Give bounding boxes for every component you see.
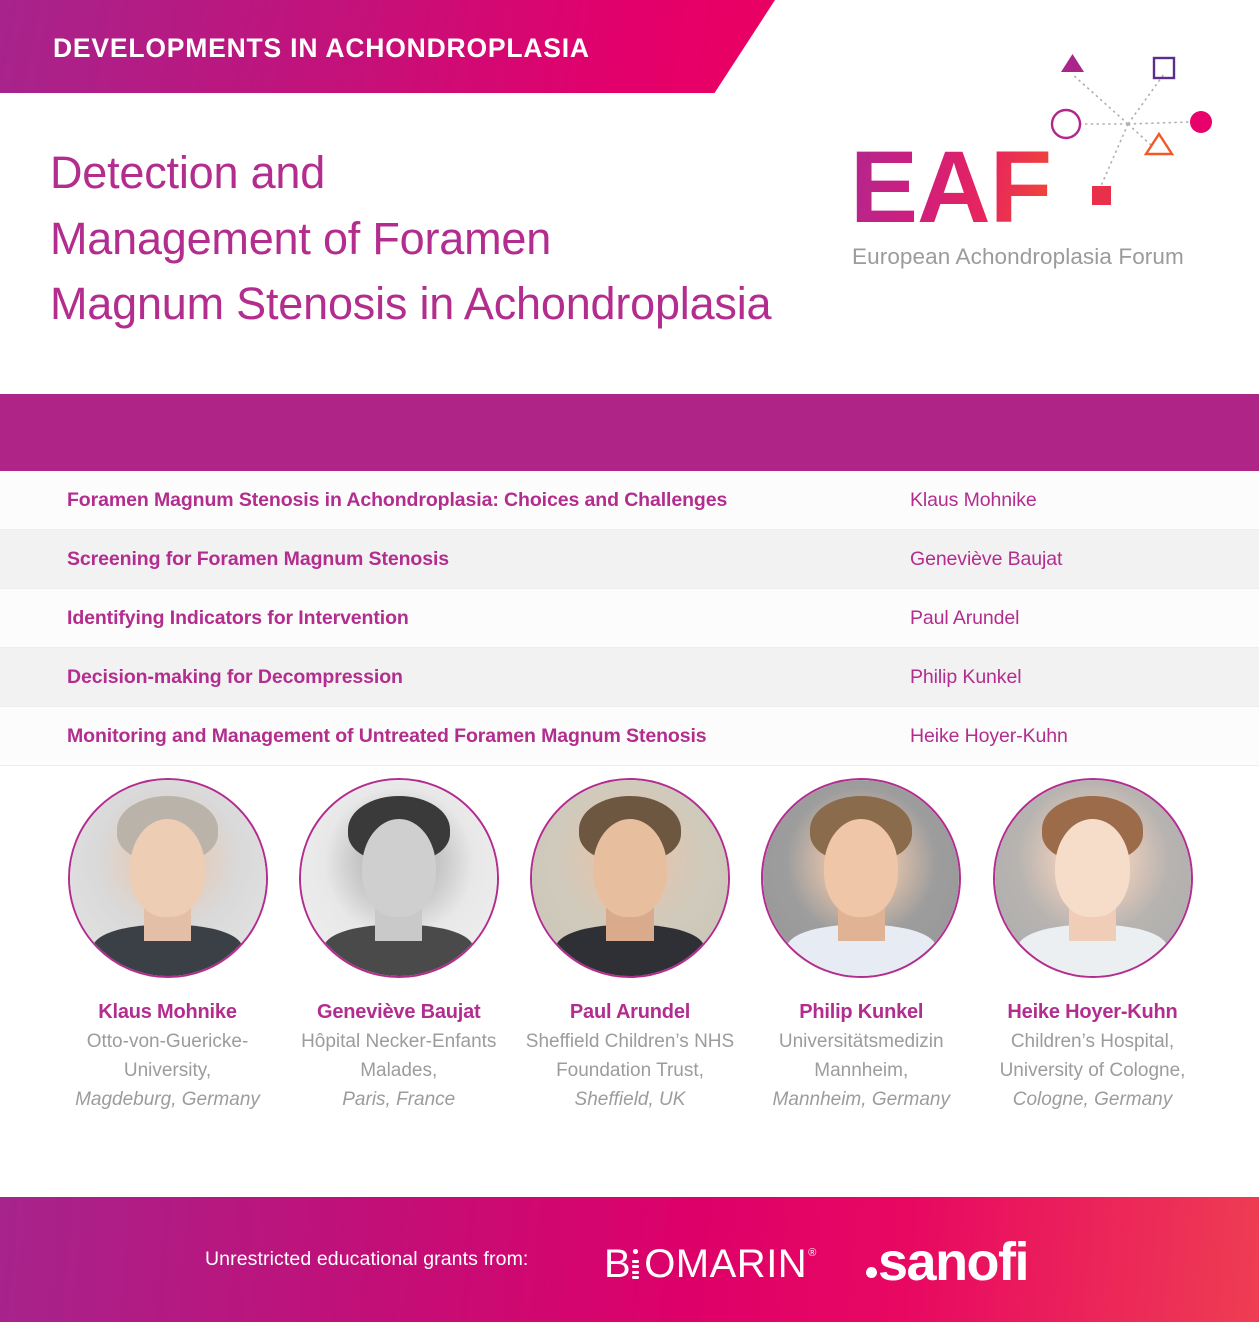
speaker-location: Mannheim, Germany	[754, 1085, 969, 1114]
page-title: Detection and Management of Foramen Magn…	[50, 140, 810, 337]
speaker-affiliation: Hôpital Necker-Enfants Malades,	[291, 1027, 506, 1085]
page-title-line-2: Management of Foramen	[50, 206, 810, 272]
avatar	[530, 778, 730, 978]
table-row: Identifying Indicators for Intervention …	[0, 589, 1259, 648]
speaker-card: Heike Hoyer-Kuhn Children’s Hospital, Un…	[985, 778, 1200, 1114]
speaker-name: Philip Kunkel	[754, 1000, 969, 1024]
avatar	[68, 778, 268, 978]
table-row: Foramen Magnum Stenosis in Achondroplasi…	[0, 471, 1259, 530]
avatar	[761, 778, 961, 978]
portrait-photo	[532, 780, 728, 976]
speaker-affiliation: Universitätsmedizin Mannheim,	[754, 1027, 969, 1085]
section-divider-band	[0, 394, 1259, 471]
session-title: Screening for Foramen Magnum Stenosis	[67, 548, 449, 571]
biomarin-spine-icon	[632, 1249, 639, 1279]
speaker-card: Geneviève Baujat Hôpital Necker-Enfants …	[291, 778, 506, 1114]
session-title: Foramen Magnum Stenosis in Achondroplasi…	[67, 489, 727, 512]
biomarin-b: B	[604, 1244, 631, 1284]
speaker-affiliation: Otto-von-Guericke-University,	[60, 1027, 275, 1085]
footer-bar: Unrestricted educational grants from: B …	[0, 1197, 1259, 1322]
table-row: Screening for Foramen Magnum Stenosis Ge…	[0, 530, 1259, 589]
speaker-name: Paul Arundel	[523, 1000, 738, 1024]
speaker-card: Philip Kunkel Universitätsmedizin Mannhe…	[754, 778, 969, 1114]
session-speaker: Philip Kunkel	[910, 666, 1021, 689]
outline-square-icon	[1154, 58, 1174, 78]
speaker-name: Heike Hoyer-Kuhn	[985, 1000, 1200, 1024]
page-title-line-1: Detection and	[50, 140, 810, 206]
avatar	[993, 778, 1193, 978]
speaker-location: Cologne, Germany	[985, 1085, 1200, 1114]
speaker-card: Paul Arundel Sheffield Children’s NHS Fo…	[523, 778, 738, 1114]
portrait-photo	[70, 780, 266, 976]
speaker-location: Sheffield, UK	[523, 1085, 738, 1114]
filled-square-icon	[1092, 186, 1111, 205]
biomarin-logo: B OMARIN ®	[604, 1244, 816, 1284]
registered-trademark-icon: ®	[808, 1247, 816, 1259]
speaker-name: Klaus Mohnike	[60, 1000, 275, 1024]
banner-title: DEVELOPMENTS IN ACHONDROPLASIA	[53, 33, 590, 64]
speaker-location: Magdeburg, Germany	[60, 1085, 275, 1114]
session-speaker: Heike Hoyer-Kuhn	[910, 725, 1068, 748]
outline-circle-icon	[1052, 110, 1080, 138]
sanofi-wordmark: sanofi	[878, 1232, 1028, 1292]
speaker-affiliation: Children’s Hospital, University of Colog…	[985, 1027, 1200, 1085]
speaker-grid: Klaus Mohnike Otto-von-Guericke-Universi…	[60, 778, 1200, 1114]
filled-triangle-icon	[1061, 54, 1084, 72]
session-speaker: Klaus Mohnike	[910, 489, 1037, 512]
avatar	[299, 778, 499, 978]
session-speaker: Geneviève Baujat	[910, 548, 1062, 571]
session-title: Decision-making for Decompression	[67, 666, 403, 689]
table-row: Decision-making for Decompression Philip…	[0, 648, 1259, 707]
table-row: Monitoring and Management of Untreated F…	[0, 707, 1259, 766]
speaker-location: Paris, France	[291, 1085, 506, 1114]
speaker-card: Klaus Mohnike Otto-von-Guericke-Universi…	[60, 778, 275, 1114]
speaker-name: Geneviève Baujat	[291, 1000, 506, 1024]
biomarin-wordmark: OMARIN	[644, 1244, 807, 1284]
portrait-photo	[995, 780, 1191, 976]
filled-circle-icon	[1190, 111, 1212, 133]
eaf-network-graphic	[1028, 40, 1228, 210]
grants-label: Unrestricted educational grants from:	[205, 1248, 528, 1271]
session-title: Monitoring and Management of Untreated F…	[67, 725, 707, 748]
session-title: Identifying Indicators for Intervention	[67, 607, 409, 630]
eaf-logo: EAF European Achondroplasia Forum	[848, 48, 1218, 268]
session-speaker: Paul Arundel	[910, 607, 1019, 630]
portrait-photo	[301, 780, 497, 976]
speaker-affiliation: Sheffield Children’s NHS Foundation Trus…	[523, 1027, 738, 1085]
sanofi-dot-icon	[866, 1267, 877, 1278]
page-title-line-3: Magnum Stenosis in Achondroplasia	[50, 271, 810, 337]
session-list: Foramen Magnum Stenosis in Achondroplasi…	[0, 471, 1259, 766]
eaf-subtitle: European Achondroplasia Forum	[852, 244, 1184, 270]
eaf-wordmark: EAF	[850, 136, 1051, 238]
sanofi-logo: sanofi	[866, 1235, 1028, 1289]
portrait-photo	[763, 780, 959, 976]
